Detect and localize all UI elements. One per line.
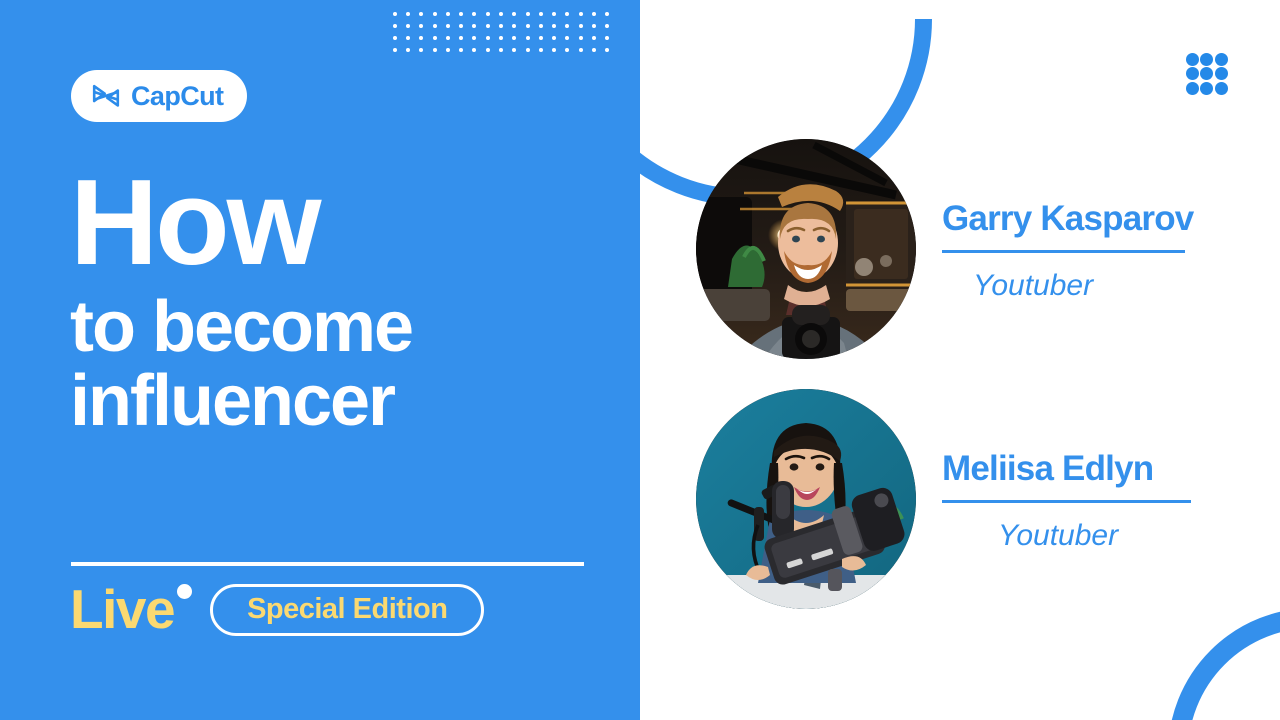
dot bbox=[592, 12, 596, 16]
headline-block: How to become influencer bbox=[70, 166, 615, 439]
speaker-role: Youtuber bbox=[973, 269, 1193, 302]
speaker-name: Meliisa Edlyn bbox=[942, 450, 1191, 489]
speaker-info: Garry Kasparov Youtuber bbox=[942, 196, 1193, 302]
capcut-logo[interactable]: CapCut bbox=[71, 70, 247, 122]
dot bbox=[565, 36, 569, 40]
dot bbox=[459, 48, 463, 52]
dot bbox=[472, 24, 476, 28]
dot bbox=[1200, 82, 1213, 95]
dot bbox=[1186, 82, 1199, 95]
dot bbox=[406, 12, 410, 16]
speaker-info: Meliisa Edlyn Youtuber bbox=[942, 446, 1191, 552]
dot bbox=[512, 12, 516, 16]
dot bbox=[419, 12, 423, 16]
headline-line-2: to become bbox=[70, 290, 615, 364]
dot bbox=[446, 24, 450, 28]
dot bbox=[499, 12, 503, 16]
dot bbox=[486, 12, 490, 16]
headline-line-1: How bbox=[70, 166, 615, 278]
dot bbox=[1200, 53, 1213, 66]
special-edition-label: Special Edition bbox=[247, 595, 447, 624]
special-edition-badge[interactable]: Special Edition bbox=[210, 584, 484, 636]
dot bbox=[1186, 53, 1199, 66]
dot bbox=[552, 36, 556, 40]
dot bbox=[605, 48, 609, 52]
dot bbox=[499, 36, 503, 40]
dot bbox=[446, 36, 450, 40]
dot bbox=[565, 48, 569, 52]
dot bbox=[512, 24, 516, 28]
dot bbox=[393, 36, 397, 40]
name-underline bbox=[942, 250, 1185, 253]
dot bbox=[605, 12, 609, 16]
dot bbox=[526, 24, 530, 28]
dot bbox=[526, 48, 530, 52]
dot bbox=[579, 12, 583, 16]
speaker-card[interactable]: Garry Kasparov Youtuber bbox=[696, 139, 1193, 359]
dot bbox=[433, 36, 437, 40]
dot bbox=[486, 48, 490, 52]
dot bbox=[433, 24, 437, 28]
dot-grid-icon bbox=[388, 8, 614, 56]
dot-grid-icon bbox=[1185, 52, 1229, 96]
dot bbox=[579, 48, 583, 52]
speaker-role: Youtuber bbox=[998, 519, 1191, 552]
live-label: Live bbox=[70, 582, 188, 637]
dot bbox=[486, 24, 490, 28]
dot bbox=[393, 24, 397, 28]
dot bbox=[592, 36, 596, 40]
dot bbox=[499, 24, 503, 28]
dot bbox=[486, 36, 490, 40]
headline-line-3: influencer bbox=[70, 364, 615, 438]
dot bbox=[592, 24, 596, 28]
dot bbox=[433, 12, 437, 16]
speaker-photo-icon bbox=[696, 389, 916, 609]
dot bbox=[1200, 67, 1213, 80]
dot bbox=[393, 12, 397, 16]
live-status-dot-icon bbox=[177, 584, 192, 599]
dot bbox=[605, 36, 609, 40]
dot bbox=[419, 24, 423, 28]
dot bbox=[459, 24, 463, 28]
dot bbox=[472, 48, 476, 52]
dot bbox=[472, 36, 476, 40]
dot bbox=[526, 12, 530, 16]
dot bbox=[526, 36, 530, 40]
dot bbox=[539, 12, 543, 16]
dot bbox=[552, 24, 556, 28]
dot bbox=[565, 24, 569, 28]
live-badge-row: Live Special Edition bbox=[70, 582, 484, 637]
dot bbox=[433, 48, 437, 52]
dot bbox=[539, 24, 543, 28]
name-underline bbox=[942, 500, 1191, 503]
dot bbox=[1186, 67, 1199, 80]
dot bbox=[552, 48, 556, 52]
dot bbox=[446, 12, 450, 16]
dot bbox=[579, 36, 583, 40]
dot bbox=[419, 48, 423, 52]
quarter-circle-arc-icon bbox=[1168, 608, 1280, 720]
dot bbox=[1215, 53, 1228, 66]
dot bbox=[406, 24, 410, 28]
dot bbox=[472, 12, 476, 16]
dot bbox=[592, 48, 596, 52]
dot bbox=[406, 36, 410, 40]
dot bbox=[565, 12, 569, 16]
dot bbox=[579, 24, 583, 28]
speaker-card[interactable]: Meliisa Edlyn Youtuber bbox=[696, 389, 1191, 609]
dot bbox=[539, 36, 543, 40]
speaker-photo-icon bbox=[696, 139, 916, 359]
dot bbox=[499, 48, 503, 52]
dot bbox=[512, 48, 516, 52]
dot bbox=[446, 48, 450, 52]
dot bbox=[419, 36, 423, 40]
live-label-text: Live bbox=[70, 578, 174, 640]
dot bbox=[393, 48, 397, 52]
dot bbox=[1215, 82, 1228, 95]
dot bbox=[605, 24, 609, 28]
dot bbox=[552, 12, 556, 16]
dot bbox=[459, 12, 463, 16]
horizontal-rule-icon bbox=[71, 562, 584, 566]
speaker-name: Garry Kasparov bbox=[942, 200, 1193, 239]
poster-canvas: CapCut How to become influencer Live Spe… bbox=[0, 0, 1280, 720]
capcut-hourglass-icon bbox=[91, 84, 121, 108]
dot bbox=[406, 48, 410, 52]
dot bbox=[459, 36, 463, 40]
dot bbox=[512, 36, 516, 40]
capcut-logo-text: CapCut bbox=[131, 83, 223, 110]
dot bbox=[539, 48, 543, 52]
dot bbox=[1215, 67, 1228, 80]
